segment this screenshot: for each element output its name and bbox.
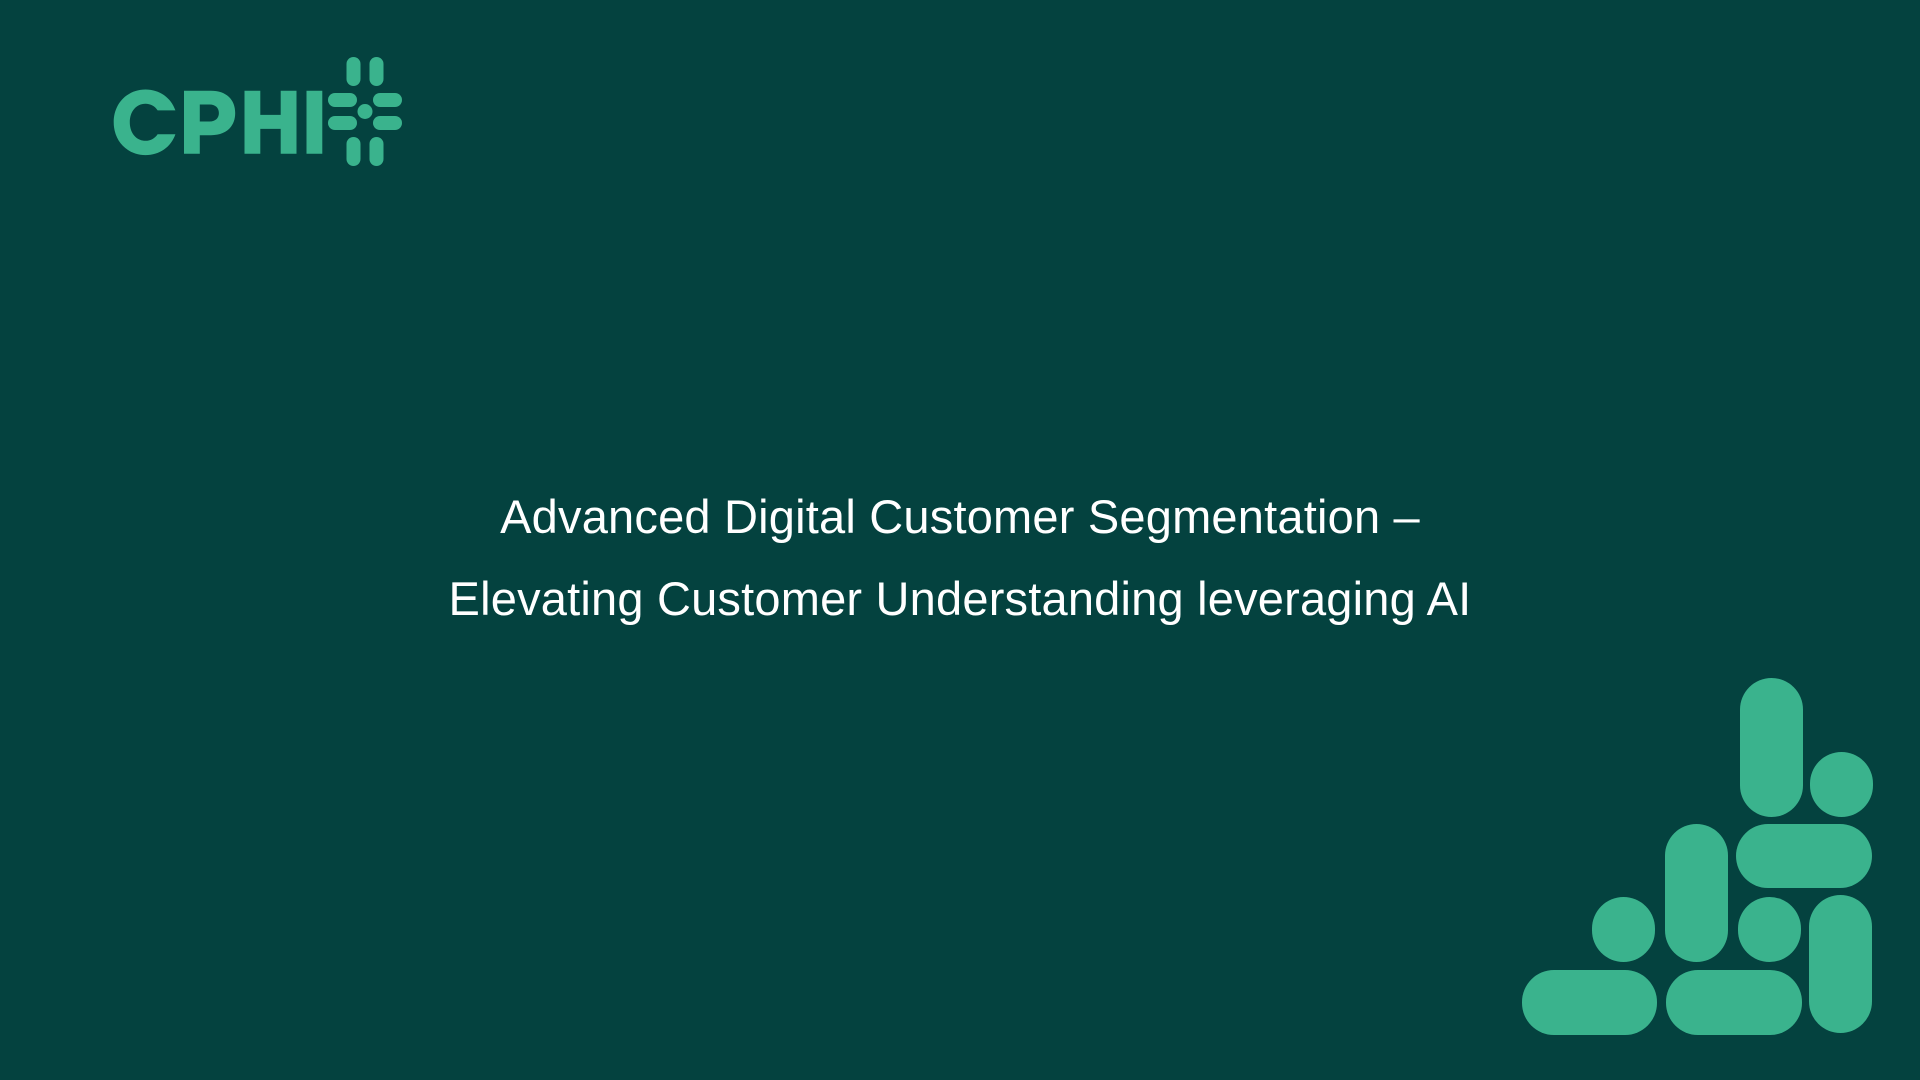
tall-pill-top — [1740, 678, 1803, 817]
wide-pill-bottom-left — [1522, 970, 1657, 1035]
cphi-block-motif — [1510, 670, 1910, 1050]
tall-pill-right — [1809, 895, 1872, 1033]
slide-title: Advanced Digital Customer Segmentation –… — [0, 476, 1920, 640]
wide-pill-middle — [1736, 824, 1872, 888]
circle-top-right — [1810, 752, 1873, 817]
slide-title-line-1: Advanced Digital Customer Segmentation – — [160, 476, 1760, 558]
circle-lower-middle — [1738, 897, 1801, 962]
tall-pill-middle — [1665, 824, 1728, 962]
circle-lower-left — [1592, 897, 1655, 962]
cphi-logo — [98, 55, 408, 170]
title-slide: Advanced Digital Customer Segmentation –… — [0, 0, 1920, 1080]
cphi-dot-burst-icon — [328, 57, 402, 166]
slide-title-line-2: Elevating Customer Understanding leverag… — [160, 558, 1760, 640]
wide-pill-bottom-mid — [1666, 970, 1802, 1035]
cphi-wordmark — [114, 90, 323, 156]
